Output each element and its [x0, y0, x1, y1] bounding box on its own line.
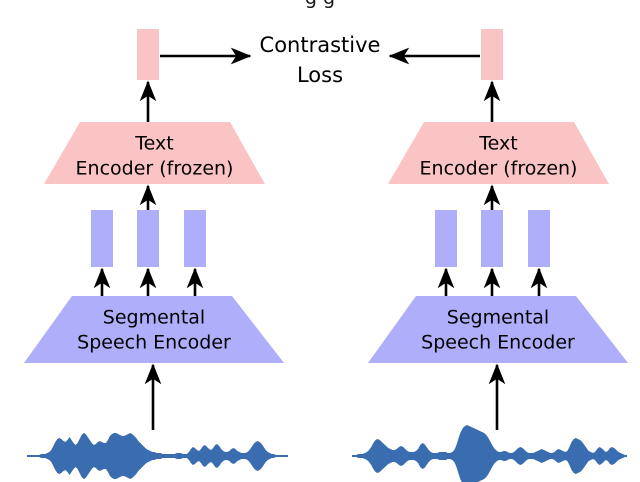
token-embedding-1-left	[91, 210, 113, 267]
clipped-figure-title: g g	[305, 0, 335, 9]
text-encoder-label-line1-left: Text	[134, 133, 173, 155]
speech-encoder-label-line2-right: Speech Encoder	[421, 332, 575, 354]
output-embedding-left	[137, 29, 159, 80]
text-encoder-label-line2-right: Encoder (frozen)	[420, 158, 578, 180]
text-encoder-label-line2-left: Encoder (frozen)	[76, 158, 234, 180]
diagram-arrows	[102, 56, 539, 430]
token-embedding-2-right	[481, 210, 503, 267]
speech-encoder-label-line1-right: Segmental	[447, 307, 549, 329]
token-embedding-1-right	[435, 210, 457, 267]
token-embedding-3-right	[528, 210, 550, 267]
diagram-canvas: g g TextEncoder (frozen)SegmentalSpeech …	[0, 0, 640, 482]
contrastive-loss-label-line2: Loss	[297, 63, 343, 87]
speech-encoder-label-line1-left: Segmental	[103, 307, 205, 329]
speech-waveform-right	[352, 425, 627, 482]
contrastive-loss-label-line1: Contrastive	[260, 33, 381, 57]
architecture-diagram: g g TextEncoder (frozen)SegmentalSpeech …	[0, 0, 640, 482]
output-embedding-right	[481, 29, 503, 80]
text-encoder-label-line1-right: Text	[478, 133, 517, 155]
token-embedding-3-left	[184, 210, 206, 267]
clipped-title-text: g g	[305, 0, 335, 9]
token-embedding-2-left	[137, 210, 159, 267]
speech-encoder-label-line2-left: Speech Encoder	[77, 332, 231, 354]
diagram-waveforms	[27, 425, 627, 482]
